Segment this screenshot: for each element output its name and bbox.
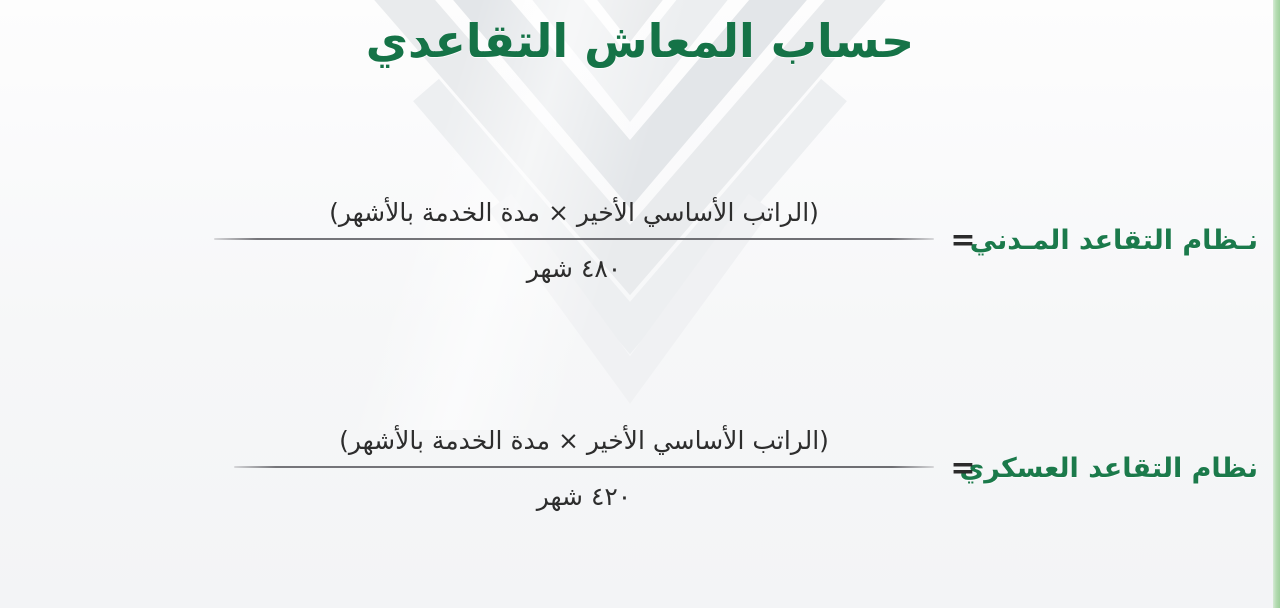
- page-title: حساب المعاش التقاعدي: [0, 8, 1280, 75]
- formula-row-civil: نـظام التقاعد المـدني = (الراتب الأساسي …: [0, 196, 1280, 286]
- numerator-civil: (الراتب الأساسي الأخير × مدة الخدمة بالأ…: [214, 196, 934, 238]
- fraction-civil: (الراتب الأساسي الأخير × مدة الخدمة بالأ…: [214, 196, 934, 286]
- right-edge-stripe: [1273, 0, 1280, 608]
- fraction-military: (الراتب الأساسي الأخير × مدة الخدمة بالأ…: [234, 424, 934, 514]
- infographic-canvas: حساب المعاش التقاعدي نـظام التقاعد المـد…: [0, 0, 1280, 608]
- formula-row-military: نظام التقاعد العسكري = (الراتب الأساسي ا…: [0, 424, 1280, 514]
- system-label-civil: نـظام التقاعد المـدني: [992, 225, 1280, 256]
- numerator-military: (الراتب الأساسي الأخير × مدة الخدمة بالأ…: [234, 424, 934, 466]
- equals-sign-military: =: [934, 451, 992, 486]
- denominator-civil: ٤٨٠ شهر: [214, 240, 934, 286]
- equals-sign-civil: =: [934, 223, 992, 258]
- denominator-military: ٤٢٠ شهر: [234, 468, 934, 514]
- system-label-military: نظام التقاعد العسكري: [992, 453, 1280, 484]
